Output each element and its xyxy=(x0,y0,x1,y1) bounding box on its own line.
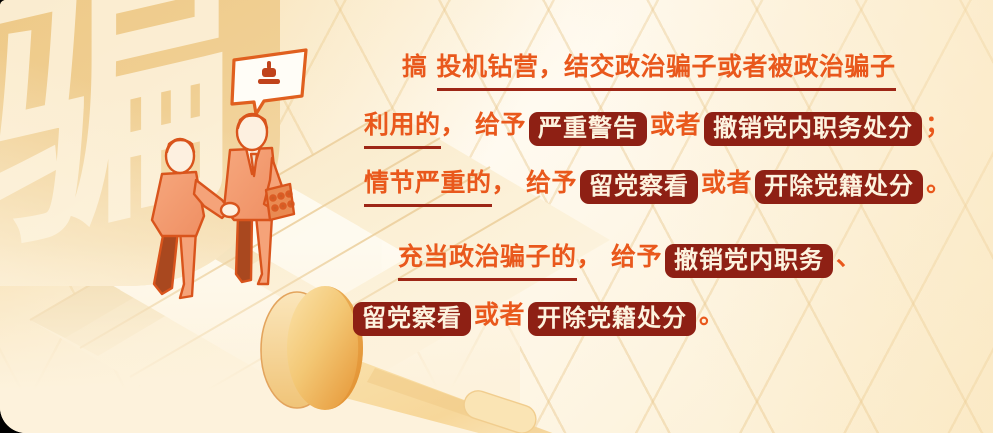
cash-bundle-behind-back xyxy=(266,184,294,220)
p1-l2-verb: 给予 xyxy=(475,110,526,139)
penalty-badge-remove-party-post-2: 撤销党内职务 xyxy=(665,244,833,278)
penalty-badge-serious-warning: 严重警告 xyxy=(529,112,647,146)
p1-l3-comma: ， xyxy=(492,168,518,197)
p2-l1-verb: 给予 xyxy=(611,242,662,271)
p1-l3-underlined: 情节严重的 xyxy=(364,168,492,207)
p1-l3-verb: 给予 xyxy=(526,168,577,197)
p2-l2-conj: 或者 xyxy=(474,300,525,329)
p1-l1-lead: 搞 xyxy=(402,52,428,81)
regulation-text-block: 搞投机钻营，结交政治骗子或者被政治骗子 利用的，给予严重警告或者撤销党内职务处分… xyxy=(330,28,970,358)
penalty-badge-expulsion: 开除党籍处分 xyxy=(755,170,923,204)
paragraph-1-line-2: 利用的，给予严重警告或者撤销党内职务处分； xyxy=(364,112,951,146)
p1-l3-end: 。 xyxy=(926,168,952,197)
penalty-badge-remove-party-post: 撤销党内职务处分 xyxy=(704,112,922,146)
p2-l2-end: 。 xyxy=(699,300,725,329)
poster-canvas: 骗 xyxy=(0,0,993,433)
p1-l1-underlined: 投机钻营，结交政治骗子或者被政治骗子 xyxy=(437,52,896,91)
p1-l2-underlined: 利用的 xyxy=(364,110,441,149)
paragraph-1-line-1: 搞投机钻营，结交政治骗子或者被政治骗子 xyxy=(402,54,896,79)
penalty-badge-probation-2: 留党察看 xyxy=(353,302,471,336)
paragraph-2-line-1: 充当政治骗子的，给予撤销党内职务、 xyxy=(398,244,862,278)
paragraph-2-line-2: 留党察看或者开除党籍处分。 xyxy=(350,302,725,336)
p1-l2-end: ； xyxy=(925,110,951,139)
penalty-badge-expulsion-2: 开除党籍处分 xyxy=(528,302,696,336)
p2-l1-comma: ， xyxy=(577,242,603,271)
p1-l3-conj: 或者 xyxy=(701,168,752,197)
p1-l2-comma: ， xyxy=(441,110,467,139)
paragraph-1-line-3: 情节严重的，给予留党察看或者开除党籍处分。 xyxy=(364,170,952,204)
p2-l1-underlined: 充当政治骗子的 xyxy=(398,242,577,281)
p1-l2-conj: 或者 xyxy=(650,110,701,139)
p2-l1-end: 、 xyxy=(836,242,862,271)
official-figure xyxy=(152,139,230,298)
penalty-badge-probation: 留党察看 xyxy=(580,170,698,204)
